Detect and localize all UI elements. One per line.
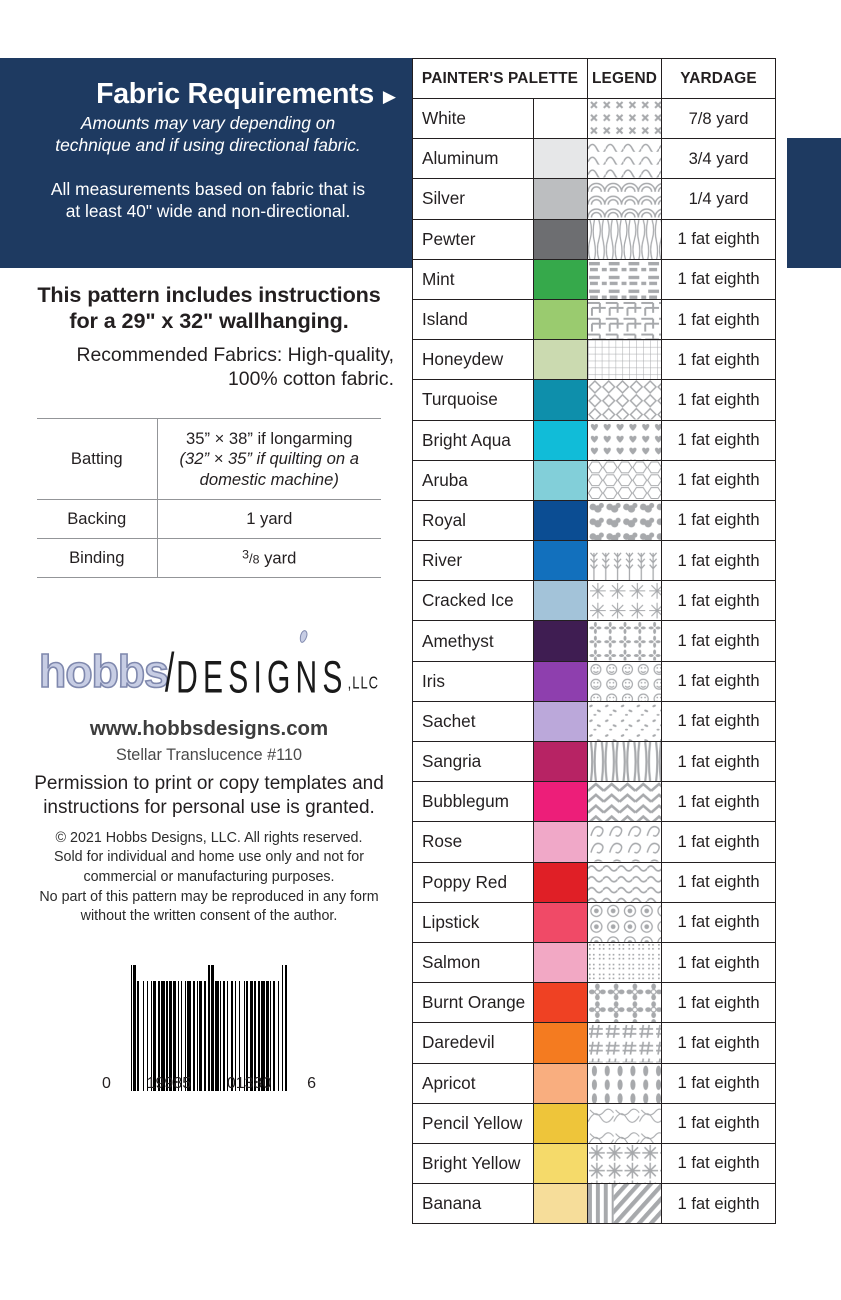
table-row: Bright Aqua1 fat eighth [413, 420, 776, 460]
table-row: Bubblegum1 fat eighth [413, 782, 776, 822]
logo-wordmark: hobbs/DESIGNS,LLC [39, 634, 379, 698]
palette-yardage-value: 1 fat eighth [662, 581, 776, 621]
table-row: Iris1 fat eighth [413, 661, 776, 701]
palette-color-swatch [534, 581, 588, 621]
palette-yardage-value: 1 fat eighth [662, 1023, 776, 1063]
legend-pattern-brick-bars [588, 259, 662, 299]
palette-color-name: Apricot [413, 1063, 534, 1103]
barcode-right-digit: 6 [307, 1075, 316, 1093]
table-row: Sangria1 fat eighth [413, 742, 776, 782]
palette-color-swatch [534, 420, 588, 460]
palette-color-name: Pencil Yellow [413, 1103, 534, 1143]
legend-pattern-cross-hatch-x [588, 99, 662, 139]
legend-pattern-wavy-texture [588, 862, 662, 902]
table-row: Banana1 fat eighth [413, 1184, 776, 1224]
table-row: Amethyst1 fat eighth [413, 621, 776, 661]
palette-color-swatch [534, 983, 588, 1023]
legend-pattern-honeycomb [588, 460, 662, 500]
legend-pattern-leaf-ovals [588, 1063, 662, 1103]
table-row: Binding 3/8 yard [37, 539, 381, 578]
legend-pattern-maze-lines [588, 299, 662, 339]
legend-pattern-wheat-stalks [588, 541, 662, 581]
palette-color-swatch [534, 1103, 588, 1143]
palette-color-name: Royal [413, 500, 534, 540]
pattern-name: Stellar Translucence #110 [22, 746, 396, 765]
palette-yardage-value: 1 fat eighth [662, 902, 776, 942]
binding-label: Binding [37, 539, 157, 578]
legend-pattern-starburst [588, 1143, 662, 1183]
palette-color-name: Poppy Red [413, 862, 534, 902]
palette-color-swatch [534, 942, 588, 982]
table-row: Turquoise1 fat eighth [413, 380, 776, 420]
copyright-line-3: No part of this pattern may be reproduce… [39, 889, 378, 905]
table-row: Daredevil1 fat eighth [413, 1023, 776, 1063]
palette-color-name: White [413, 99, 534, 139]
binding-value: 3/8 yard [157, 539, 381, 578]
palette-color-name: Aluminum [413, 139, 534, 179]
copyright-line-4: without the written consent of the autho… [81, 908, 338, 924]
barcode-bar [285, 965, 288, 1091]
table-row: Apricot1 fat eighth [413, 1063, 776, 1103]
recommended-line2: 100% cotton fabric. [228, 368, 394, 390]
palette-color-name: Mint [413, 259, 534, 299]
batting-label: Batting [37, 418, 157, 499]
barcode-bars [101, 965, 317, 1091]
palette-color-swatch [534, 742, 588, 782]
palette-yardage-value: 1 fat eighth [662, 299, 776, 339]
palette-yardage-value: 1 fat eighth [662, 661, 776, 701]
palette-yardage-value: 1 fat eighth [662, 541, 776, 581]
palette-color-swatch [534, 340, 588, 380]
permission-text: Permission to print or copy templates an… [22, 772, 396, 819]
header-subtitle-line2: technique and if using directional fabri… [22, 135, 394, 157]
legend-pattern-hearts [588, 420, 662, 460]
palette-color-swatch [534, 299, 588, 339]
fabric-requirements-header: Fabric Requirements ▶ Amounts may vary d… [0, 58, 422, 268]
logo-accent-dot-icon [298, 630, 308, 644]
palette-color-swatch [534, 380, 588, 420]
palette-color-swatch [534, 661, 588, 701]
triangle-right-icon: ▶ [383, 88, 396, 105]
palette-color-name: Honeydew [413, 340, 534, 380]
palette-color-swatch [534, 822, 588, 862]
includes-line1: This pattern includes instructions [37, 282, 380, 307]
palette-color-name: Aruba [413, 460, 534, 500]
recommended-fabrics-text: Recommended Fabrics: High-quality, 100% … [22, 344, 396, 392]
palette-color-name: Salmon [413, 942, 534, 982]
legend-pattern-scattered-specks [588, 701, 662, 741]
palette-color-name: Banana [413, 1184, 534, 1224]
legend-pattern-snowflake-outline [588, 581, 662, 621]
palette-color-swatch [534, 500, 588, 540]
legend-pattern-tiny-grid [588, 340, 662, 380]
batting-value: 35” × 38” if longarming (32” × 35” if qu… [157, 418, 381, 499]
palette-body: White7/8 yardAluminum3/4 yardSilver1/4 y… [413, 99, 776, 1224]
palette-color-swatch [534, 139, 588, 179]
palette-color-name: Sangria [413, 742, 534, 782]
copyright-line-1: Sold for individual and home use only an… [54, 849, 364, 865]
legend-pattern-thin-scribble [588, 1103, 662, 1143]
palette-yardage-value: 1 fat eighth [662, 862, 776, 902]
recommended-line1: Recommended Fabrics: High-quality, [76, 344, 394, 366]
palette-yardage-value: 1 fat eighth [662, 942, 776, 982]
palette-color-swatch [534, 1063, 588, 1103]
legend-pattern-soft-stripes [588, 742, 662, 782]
palette-yardage-value: 1 fat eighth [662, 782, 776, 822]
palette-color-name: Rose [413, 822, 534, 862]
palette-color-name: River [413, 541, 534, 581]
table-row: Aluminum3/4 yard [413, 139, 776, 179]
legend-pattern-diamond-tile [588, 380, 662, 420]
legend-pattern-hash-marks [588, 1023, 662, 1063]
barcode-left-digit: 0 [102, 1075, 111, 1093]
table-row: Island1 fat eighth [413, 299, 776, 339]
pattern-includes-heading: This pattern includes instructions for a… [22, 282, 396, 334]
palette-color-swatch [534, 1184, 588, 1224]
logo-llc-text: ,LLC [348, 673, 379, 693]
palette-color-name: Amethyst [413, 621, 534, 661]
palette-color-swatch [534, 179, 588, 219]
palette-color-name: Pewter [413, 219, 534, 259]
copyright-line-2: commercial or manufacturing purposes. [83, 869, 334, 885]
palette-yardage-value: 1 fat eighth [662, 1143, 776, 1183]
table-row: Backing 1 yard [37, 500, 381, 539]
palette-color-name: Bright Aqua [413, 420, 534, 460]
header-painters-palette: PAINTER'S PALETTE [413, 59, 588, 99]
palette-color-swatch [534, 99, 588, 139]
palette-color-swatch [534, 460, 588, 500]
legend-pattern-floral-rosette [588, 983, 662, 1023]
table-row: River1 fat eighth [413, 541, 776, 581]
palette-color-swatch [534, 219, 588, 259]
header-legend: LEGEND [588, 59, 662, 99]
table-row: Poppy Red1 fat eighth [413, 862, 776, 902]
palette-yardage-value: 1 fat eighth [662, 219, 776, 259]
barcode-digits: 0 19985 01380 6 [101, 1075, 317, 1093]
permission-line1: Permission to print or copy templates an… [34, 773, 384, 794]
copyright-line-0: © 2021 Hobbs Designs, LLC. All rights re… [56, 830, 363, 846]
legend-pattern-angled-stripes [588, 1184, 662, 1224]
table-row: Mint1 fat eighth [413, 259, 776, 299]
barcode-group-2: 01380 [227, 1075, 272, 1093]
palette-yardage-value: 1 fat eighth [662, 259, 776, 299]
table-row: White7/8 yard [413, 99, 776, 139]
palette-color-name: Silver [413, 179, 534, 219]
palette-color-name: Island [413, 299, 534, 339]
table-row: Pencil Yellow1 fat eighth [413, 1103, 776, 1143]
palette-color-name: Sachet [413, 701, 534, 741]
palette-yardage-value: 1 fat eighth [662, 340, 776, 380]
batting-value-line3: domestic machine) [162, 470, 378, 491]
navy-accent-block [787, 138, 841, 268]
table-row: Burnt Orange1 fat eighth [413, 983, 776, 1023]
legend-pattern-circle-medallion [588, 902, 662, 942]
binding-numerator: 3 [242, 548, 249, 562]
logo-slash: / [165, 640, 174, 704]
header-measurements-line1: All measurements based on fabric that is [20, 178, 396, 200]
header-spacer [20, 157, 396, 178]
palette-yardage-value: 1 fat eighth [662, 1184, 776, 1224]
page-title: Fabric Requirements [96, 78, 374, 111]
palette-color-swatch [534, 1143, 588, 1183]
table-row: Bright Yellow1 fat eighth [413, 1143, 776, 1183]
palette-color-name: Turquoise [413, 380, 534, 420]
palette-color-swatch [534, 902, 588, 942]
copyright-text: © 2021 Hobbs Designs, LLC. All rights re… [22, 829, 396, 928]
logo-designs-text: DESIGNS [176, 654, 347, 705]
legend-pattern-flower-dots [588, 621, 662, 661]
table-row: Pewter1 fat eighth [413, 219, 776, 259]
header-measurements-line2: at least 40" wide and non-directional. [20, 200, 396, 222]
palette-color-name: Iris [413, 661, 534, 701]
palette-color-swatch [534, 259, 588, 299]
palette-yardage-value: 1 fat eighth [662, 742, 776, 782]
legend-pattern-dotted-squares [588, 942, 662, 982]
table-row: Lipstick1 fat eighth [413, 902, 776, 942]
table-row: Rose1 fat eighth [413, 822, 776, 862]
painters-palette-table: PAINTER'S PALETTE LEGEND YARDAGE White7/… [412, 58, 776, 1224]
includes-line2: for a 29" x 32" wallhanging. [69, 308, 348, 333]
permission-line2: instructions for personal use is granted… [43, 797, 375, 818]
palette-yardage-value: 1 fat eighth [662, 621, 776, 661]
table-row: Royal1 fat eighth [413, 500, 776, 540]
palette-color-name: Bright Yellow [413, 1143, 534, 1183]
palette-color-swatch [534, 782, 588, 822]
logo-hobbs-text: hobbs [39, 646, 168, 697]
header-yardage: YARDAGE [662, 59, 776, 99]
materials-table: Batting 35” × 38” if longarming (32” × 3… [37, 418, 381, 578]
palette-yardage-value: 1/4 yard [662, 179, 776, 219]
legend-pattern-chevron-zigzag [588, 782, 662, 822]
palette-color-swatch [534, 621, 588, 661]
palette-yardage-value: 1 fat eighth [662, 822, 776, 862]
palette-yardage-value: 1 fat eighth [662, 380, 776, 420]
header-title-row: Fabric Requirements ▶ [20, 78, 396, 111]
binding-unit: yard [259, 548, 296, 567]
table-row: Sachet1 fat eighth [413, 701, 776, 741]
batting-value-line2: (32” × 35” if quilting on a [162, 449, 378, 470]
palette-yardage-value: 1 fat eighth [662, 1103, 776, 1143]
legend-pattern-wood-grain [588, 219, 662, 259]
backing-value: 1 yard [157, 500, 381, 539]
palette-yardage-value: 3/4 yard [662, 139, 776, 179]
palette-color-name: Bubblegum [413, 782, 534, 822]
header-subtitle-line1: Amounts may vary depending on [22, 113, 394, 135]
backing-label: Backing [37, 500, 157, 539]
legend-pattern-cloud-blobs [588, 500, 662, 540]
table-row: Aruba1 fat eighth [413, 460, 776, 500]
palette-header-row: PAINTER'S PALETTE LEGEND YARDAGE [413, 59, 776, 99]
palette-color-swatch [534, 701, 588, 741]
table-row: Cracked Ice1 fat eighth [413, 581, 776, 621]
palette-color-name: Cracked Ice [413, 581, 534, 621]
legend-pattern-smiley-faces [588, 661, 662, 701]
table-row: Batting 35” × 38” if longarming (32” × 3… [37, 418, 381, 499]
palette-yardage-value: 1 fat eighth [662, 983, 776, 1023]
palette-yardage-value: 1 fat eighth [662, 701, 776, 741]
palette-color-name: Burnt Orange [413, 983, 534, 1023]
legend-pattern-paisley-curves [588, 822, 662, 862]
table-row: Honeydew1 fat eighth [413, 340, 776, 380]
batting-value-line1: 35” × 38” if longarming [162, 428, 378, 449]
table-row: Silver1/4 yard [413, 179, 776, 219]
legend-pattern-fan-arcs [588, 179, 662, 219]
hobbs-designs-logo: hobbs/DESIGNS,LLC [22, 634, 396, 698]
left-info-column: This pattern includes instructions for a… [0, 276, 420, 1093]
website-url[interactable]: www.hobbsdesigns.com [22, 718, 396, 741]
palette-color-name: Daredevil [413, 1023, 534, 1063]
palette-color-name: Lipstick [413, 902, 534, 942]
barcode: 0 19985 01380 6 [101, 965, 317, 1093]
legend-pattern-swirl-waves [588, 139, 662, 179]
palette-yardage-value: 7/8 yard [662, 99, 776, 139]
palette-color-swatch [534, 1023, 588, 1063]
palette-yardage-value: 1 fat eighth [662, 420, 776, 460]
palette-yardage-value: 1 fat eighth [662, 500, 776, 540]
barcode-group-1: 19985 [147, 1075, 192, 1093]
palette-color-swatch [534, 541, 588, 581]
palette-yardage-value: 1 fat eighth [662, 1063, 776, 1103]
palette-yardage-value: 1 fat eighth [662, 460, 776, 500]
palette-color-swatch [534, 862, 588, 902]
table-row: Salmon1 fat eighth [413, 942, 776, 982]
